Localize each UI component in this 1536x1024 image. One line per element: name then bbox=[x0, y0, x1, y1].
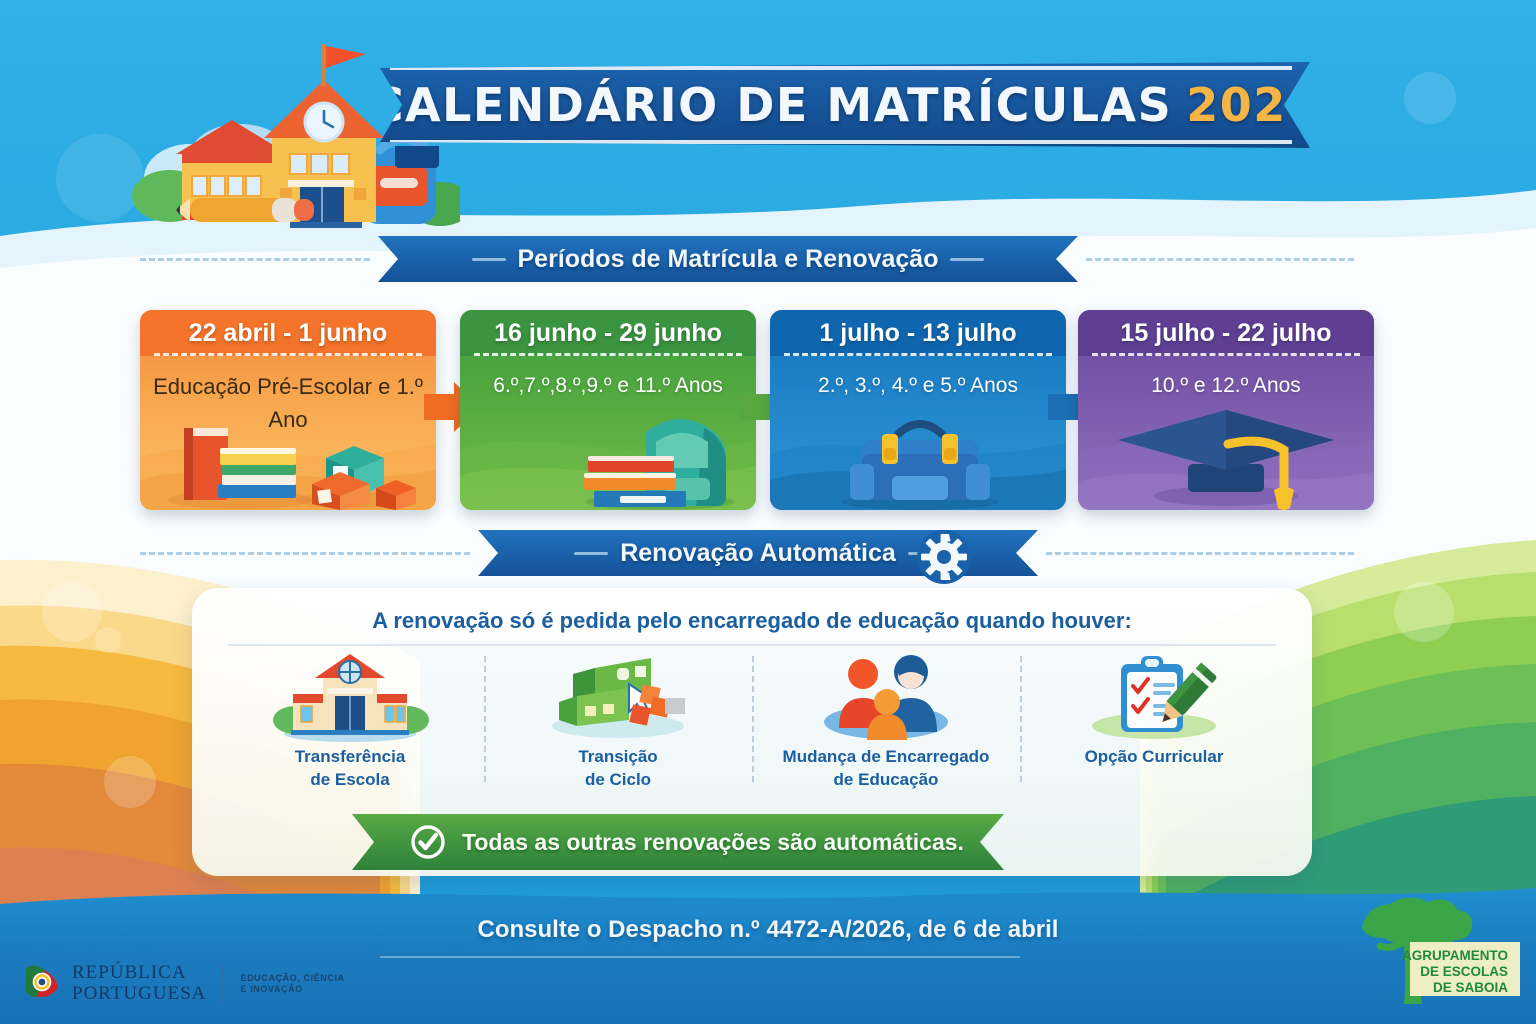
republica-line-1: REPÚBLICA bbox=[72, 963, 206, 984]
backpack-and-books-illustration bbox=[460, 392, 756, 510]
family-guardian-icon bbox=[801, 650, 971, 742]
logo-divider bbox=[222, 965, 224, 1003]
footer-divider bbox=[380, 956, 1020, 958]
period-card-2-header: 16 junho - 29 junho bbox=[460, 310, 756, 356]
banner-tab-decoration bbox=[395, 146, 439, 168]
reason-label-mudanca-encarregado: Mudança de Encarregado de Educação bbox=[783, 746, 990, 792]
period-card-1-body: Educação Pré-Escolar e 1.º Ano bbox=[140, 356, 436, 510]
period-card-2-body: 6.º,7.º,8.º,9.º e 11.º Anos bbox=[460, 356, 756, 510]
dashed-rule-left-periods bbox=[140, 258, 370, 261]
briefcase-illustration bbox=[770, 392, 1066, 510]
automatic-renewal-banner: Todas as outras renovações são automátic… bbox=[352, 814, 1004, 870]
ministry-line-1: EDUCAÇÃO, CIÊNCIA bbox=[240, 973, 344, 984]
gear-icon bbox=[915, 528, 973, 586]
period-card-2-dates: 16 junho - 29 junho bbox=[494, 319, 722, 348]
reason-label-transicao: Transição de Ciclo bbox=[578, 746, 657, 792]
period-card-4[interactable]: 15 julho - 22 julho 10.º e 12.º Anos bbox=[1078, 310, 1374, 510]
reason-label-opcao-curricular: Opção Curricular bbox=[1085, 746, 1224, 769]
check-circle-icon bbox=[410, 824, 446, 860]
cycle-transition-icon bbox=[533, 650, 703, 742]
period-card-3[interactable]: 1 julho - 13 julho 2.º, 3.º, 4.º e 5.º A… bbox=[770, 310, 1066, 510]
reason-item-transferencia[interactable]: Transferência de Escola bbox=[216, 650, 484, 800]
period-card-2[interactable]: 16 junho - 29 junho 6.º,7.º,8.º,9.º e 11… bbox=[460, 310, 756, 510]
period-card-3-header: 1 julho - 13 julho bbox=[770, 310, 1066, 356]
main-title-banner: CALENDÁRIO DE MATRÍCULAS2026 bbox=[380, 62, 1310, 148]
agrupamento-escolas-saboia-logo: AGRUPAMENTO DE ESCOLAS DE SABOIA bbox=[1352, 898, 1524, 1010]
books-and-blocks-illustration bbox=[140, 392, 436, 510]
reason-item-opcao-curricular[interactable]: Opção Curricular bbox=[1020, 650, 1288, 800]
title-main-text: CALENDÁRIO DE MATRÍCULAS bbox=[370, 78, 1173, 132]
ribbon-dash-left bbox=[472, 258, 506, 261]
ministry-wordmark: EDUCAÇÃO, CIÊNCIA E INOVAÇÃO bbox=[240, 973, 344, 996]
section-heading-periods: Períodos de Matrícula e Renovação bbox=[378, 236, 1078, 282]
period-card-1[interactable]: 22 abril - 1 junho Educação Pré-Escolar … bbox=[140, 310, 436, 510]
period-card-3-body: 2.º, 3.º, 4.º e 5.º Anos bbox=[770, 356, 1066, 510]
footer-note: Consulte o Despacho n.º 4472-A/2026, de … bbox=[0, 916, 1536, 944]
period-card-1-dates: 22 abril - 1 junho bbox=[189, 319, 388, 348]
renewal-heading-label: Renovação Automática bbox=[620, 539, 896, 568]
period-card-1-header: 22 abril - 1 junho bbox=[140, 310, 436, 356]
renewal-reasons-list: Transferência de Escola bbox=[216, 650, 1288, 800]
periods-heading-label: Períodos de Matrícula e Renovação bbox=[518, 245, 939, 274]
period-card-4-header: 15 julho - 22 julho bbox=[1078, 310, 1374, 356]
clipboard-checklist-icon bbox=[1069, 650, 1239, 742]
automatic-renewal-banner-text: Todas as outras renovações são automátic… bbox=[462, 829, 964, 856]
period-card-4-dates: 15 julho - 22 julho bbox=[1120, 319, 1331, 348]
ministry-line-2: E INOVAÇÃO bbox=[240, 984, 344, 995]
school-building-icon bbox=[265, 650, 435, 742]
school-logo-line-3: DE SABOIA bbox=[1433, 980, 1508, 995]
dashed-rule-left-renewal bbox=[140, 552, 470, 555]
school-logo-line-1: AGRUPAMENTO bbox=[1402, 948, 1508, 963]
dashed-rule-right-renewal bbox=[1046, 552, 1354, 555]
page-title: CALENDÁRIO DE MATRÍCULAS2026 bbox=[370, 78, 1321, 132]
republica-portuguesa-logo: REPÚBLICA PORTUGUESA EDUCAÇÃO, CIÊNCIA E… bbox=[22, 962, 345, 1006]
graduation-cap-illustration bbox=[1078, 392, 1374, 510]
ribbon-dash-left bbox=[574, 552, 608, 555]
ribbon-dash-right bbox=[950, 258, 984, 261]
infographic-canvas: CALENDÁRIO DE MATRÍCULAS2026 Períodos de… bbox=[0, 0, 1536, 1024]
republica-line-2: PORTUGUESA bbox=[72, 984, 206, 1005]
period-card-4-body: 10.º e 12.º Anos bbox=[1078, 356, 1374, 510]
reason-item-transicao[interactable]: Transição de Ciclo bbox=[484, 650, 752, 800]
portugal-shield-icon bbox=[22, 962, 62, 1006]
panel-divider bbox=[228, 644, 1276, 646]
school-logo-line-2: DE ESCOLAS bbox=[1420, 964, 1508, 979]
republica-portuguesa-wordmark: REPÚBLICA PORTUGUESA bbox=[72, 963, 206, 1004]
dashed-rule-right-periods bbox=[1086, 258, 1354, 261]
reason-label-transferencia: Transferência de Escola bbox=[295, 746, 406, 792]
period-card-3-dates: 1 julho - 13 julho bbox=[819, 319, 1016, 348]
panel-intro-text: A renovação só é pedida pelo encarregado… bbox=[192, 608, 1312, 634]
reason-item-mudanca-encarregado[interactable]: Mudança de Encarregado de Educação bbox=[752, 650, 1020, 800]
